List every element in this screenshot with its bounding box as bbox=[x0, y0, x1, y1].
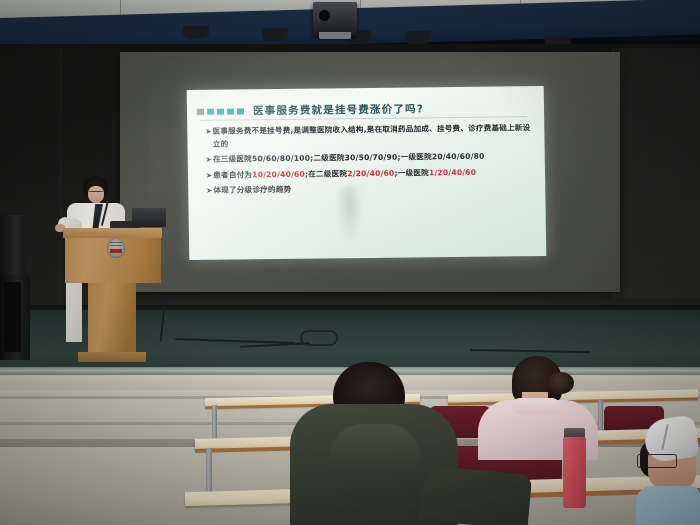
bullet-segment: 50/60/80/100 bbox=[252, 154, 310, 164]
bullet-segment: 体现了分级诊疗的趋势 bbox=[213, 185, 291, 195]
laptop-icon bbox=[132, 208, 166, 227]
podium-top bbox=[63, 228, 162, 238]
loudspeaker-icon bbox=[0, 215, 26, 275]
bullet-segment: ;一级医院 bbox=[394, 168, 429, 177]
bullet-segment: 患者自付为 bbox=[213, 170, 252, 179]
attendee-nurse-cap-uniform bbox=[636, 486, 700, 525]
jacket-hood bbox=[330, 424, 420, 468]
highlighted-value: 10/20/40/60 bbox=[252, 169, 305, 179]
podium-base bbox=[78, 352, 146, 362]
slide-body: ➤医事服务费不是挂号费,是调整医院收入结构,是在取消药品加成、挂号费、诊疗费基础… bbox=[205, 122, 538, 200]
cable-coil bbox=[300, 330, 338, 346]
slide-bullet-text: 医事服务费不是挂号费,是调整医院收入结构,是在取消药品加成、挂号费、诊疗费基础上… bbox=[212, 122, 537, 151]
attendee-pink-top-collar bbox=[512, 398, 560, 414]
podium-column bbox=[88, 282, 136, 355]
slide-bullet: ➤在三级医院50/60/80/100;二级医院30/50/70/90;一级医院2… bbox=[206, 150, 538, 166]
hair-bun bbox=[548, 372, 574, 394]
bullet-segment: 医事服务费不是挂号费,是调整医院收入结构,是在取消药品加成、挂号费、诊疗费基础上… bbox=[212, 123, 530, 148]
glasses-icon bbox=[89, 191, 103, 196]
slide-bullet: ➤体现了分级诊疗的趋势 bbox=[206, 181, 538, 197]
bullet-arrow-icon: ➤ bbox=[206, 169, 212, 182]
spotlight-icon bbox=[262, 28, 288, 42]
bullet-segment: ;二级医院30/50/70/90;一级医院20/40/60/80 bbox=[310, 152, 485, 163]
square-bullet-icon bbox=[237, 108, 244, 114]
slide-bullet: ➤医事服务费不是挂号费,是调整医院收入结构,是在取消药品加成、挂号费、诊疗费基础… bbox=[205, 122, 537, 151]
pink-thermos-bottle bbox=[563, 437, 586, 508]
attendee-arm bbox=[418, 465, 532, 525]
square-bullet-icon bbox=[227, 108, 234, 114]
slide-bullet-text: 患者自付为10/20/40/60;在二级医院2/20/40/60;一级医院1/2… bbox=[213, 166, 476, 181]
slide-title: 医事服务费就是挂号费涨价了吗? bbox=[253, 101, 424, 118]
square-bullet-icon bbox=[217, 108, 224, 114]
slide-title-row: 医事服务费就是挂号费涨价了吗? bbox=[197, 101, 424, 119]
speaker-grill-icon bbox=[4, 282, 21, 352]
projected-slide: 医事服务费就是挂号费涨价了吗? ➤医事服务费不是挂号费,是调整医院收入结构,是在… bbox=[187, 86, 547, 260]
highlighted-value: 1/20/40/60 bbox=[429, 167, 476, 177]
spotlight-icon bbox=[183, 26, 209, 40]
projector-lens-icon bbox=[319, 10, 330, 21]
projector-icon bbox=[313, 2, 357, 36]
square-bullet-icon bbox=[207, 108, 214, 114]
spotlight-icon bbox=[405, 31, 431, 45]
bullet-arrow-icon: ➤ bbox=[206, 185, 212, 198]
wall-seam bbox=[60, 48, 61, 308]
square-bullet-icon bbox=[197, 108, 204, 114]
podium-emblem-icon bbox=[107, 238, 125, 258]
desk-leg bbox=[206, 448, 212, 496]
highlighted-value: 2/20/40/60 bbox=[347, 168, 394, 178]
slide-bullet-text: 在三级医院50/60/80/100;二级医院30/50/70/90;一级医院20… bbox=[213, 151, 485, 167]
bullet-segment: ;在二级医院 bbox=[305, 169, 347, 178]
slide-bullet-text: 体现了分级诊疗的趋势 bbox=[213, 184, 291, 197]
glasses-icon bbox=[637, 454, 677, 468]
wall-panel-right bbox=[612, 48, 700, 298]
bullet-arrow-icon: ➤ bbox=[205, 126, 211, 139]
lecture-hall-photo: 医事服务费就是挂号费涨价了吗? ➤医事服务费不是挂号费,是调整医院收入结构,是在… bbox=[0, 0, 700, 525]
slide-bullet: ➤患者自付为10/20/40/60;在二级医院2/20/40/60;一级医院1/… bbox=[206, 166, 538, 182]
bullet-segment: 在三级医院 bbox=[213, 154, 252, 163]
bullet-arrow-icon: ➤ bbox=[206, 154, 212, 167]
